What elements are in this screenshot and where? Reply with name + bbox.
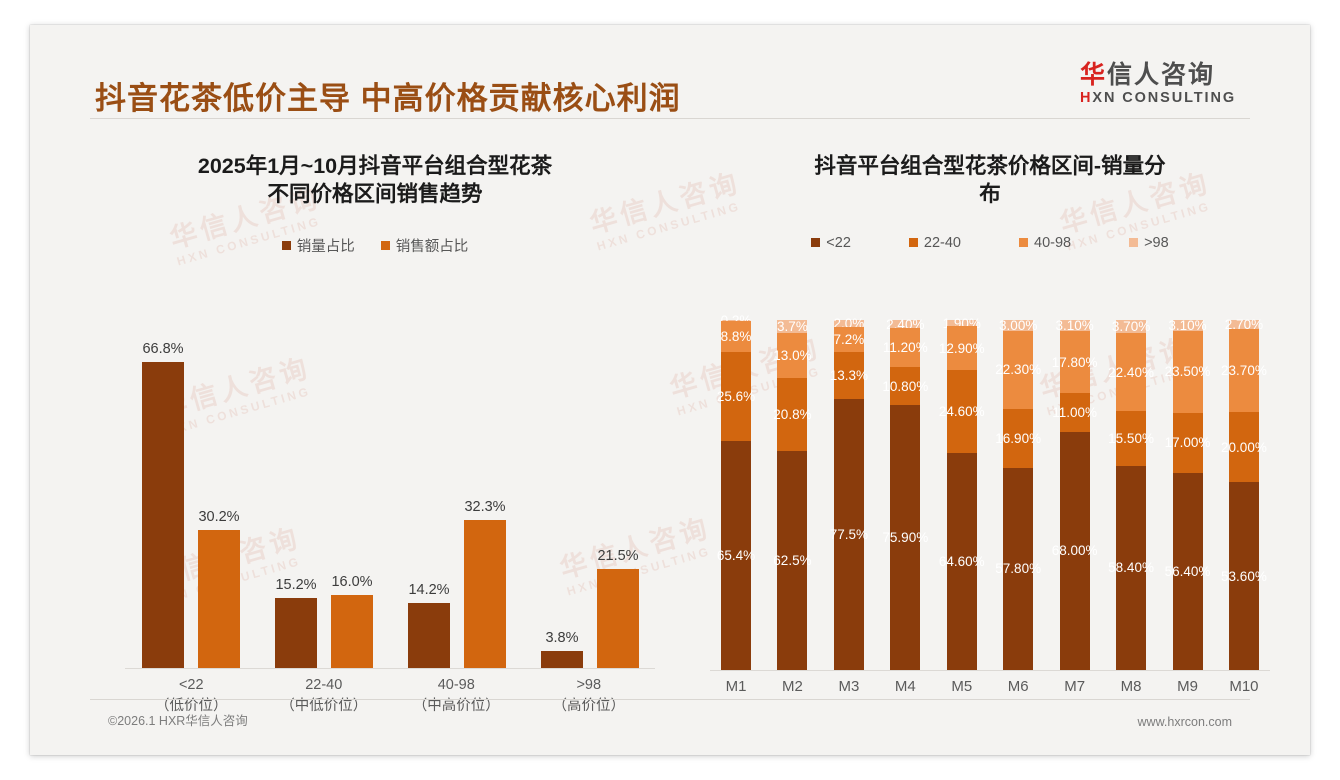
- stack-segment-22-40: 25.6%: [721, 352, 751, 442]
- left-bar-group: 14.2%32.3%: [398, 520, 516, 668]
- segment-value-label: 8.8%: [721, 329, 752, 344]
- legend-label: 40-98: [1034, 235, 1071, 251]
- right-chart-title: 抖音平台组合型花茶价格区间-销量分 布: [690, 130, 1290, 209]
- stack-segment->98: 3.10%: [1060, 320, 1090, 331]
- legend-swatch-icon: [811, 238, 820, 247]
- x-axis-label: M4: [879, 678, 931, 695]
- legend-item-left-1[interactable]: 销售额占比: [381, 235, 469, 256]
- right-chart-plot: 0.2%8.8%25.6%65.4%3.7%13.0%20.8%62.5%2.0…: [710, 320, 1270, 670]
- stack-segment-22-40: 20.8%: [777, 378, 807, 451]
- bar-销量占比[interactable]: 66.8%: [142, 362, 184, 668]
- x-axis-label: M9: [1162, 678, 1214, 695]
- bar-rect: [331, 595, 373, 668]
- logo-cn-red: 华: [1080, 61, 1107, 89]
- segment-value-label: 7.2%: [833, 332, 864, 347]
- legend-label: 销量占比: [297, 235, 355, 256]
- segment-value-label: 58.40%: [1108, 560, 1154, 575]
- footer-website[interactable]: www.hxrcon.com: [1138, 715, 1232, 729]
- stack-segment-<22: 64.60%: [947, 453, 977, 670]
- left-bar-group: 15.2%16.0%: [265, 595, 383, 668]
- segment-value-label: 17.00%: [1165, 435, 1211, 450]
- x-axis-label: M10: [1218, 678, 1270, 695]
- left-chart-title: 2025年1月~10月抖音平台组合型花茶 不同价格区间销售趋势: [70, 130, 680, 209]
- bar-rect: [541, 651, 583, 668]
- stack-segment-40-98: 7.2%: [834, 327, 864, 352]
- legend-swatch-icon: [909, 238, 918, 247]
- stacked-bar-column[interactable]: 3.10%23.50%17.00%56.40%: [1162, 320, 1214, 670]
- x-axis-label: 22-40（中低价位）: [258, 675, 391, 717]
- bar-value-label: 32.3%: [464, 499, 505, 515]
- stack-segment-<22: 68.00%: [1060, 432, 1090, 670]
- bar-rect: [597, 569, 639, 668]
- x-axis-label: M2: [766, 678, 818, 695]
- stack-segment->98: 2.70%: [1229, 320, 1259, 329]
- segment-value-label: 20.00%: [1221, 440, 1267, 455]
- left-bar-group: 66.8%30.2%: [132, 362, 250, 668]
- bar-销售额占比[interactable]: 21.5%: [597, 569, 639, 668]
- bar-value-label: 14.2%: [408, 582, 449, 598]
- stack-segment-40-98: 23.70%: [1229, 329, 1259, 412]
- stacked-bar-column[interactable]: 3.00%22.30%16.90%57.80%: [992, 320, 1044, 670]
- slide-header: 抖音花茶低价主导 中高价格贡献核心利润 华信人咨询 HXN CONSULTING: [30, 25, 1310, 120]
- bar-rect: [408, 603, 450, 668]
- stack-segment-22-40: 16.90%: [1003, 409, 1033, 468]
- stacked-bar-column[interactable]: 2.40%11.20%10.80%75.90%: [879, 320, 931, 670]
- segment-value-label: 11.00%: [1052, 405, 1097, 420]
- stack-segment-40-98: 8.8%: [721, 321, 751, 352]
- stacked-bar-column[interactable]: 2.70%23.70%20.00%53.60%: [1218, 320, 1270, 670]
- segment-value-label: 23.50%: [1165, 364, 1211, 379]
- stack-segment-<22: 62.5%: [777, 451, 807, 670]
- stacked-bar: 2.0%7.2%13.3%77.5%: [834, 320, 864, 670]
- segment-value-label: 23.70%: [1221, 363, 1267, 378]
- legend-swatch-icon: [282, 241, 291, 250]
- bar-销售额占比[interactable]: 32.3%: [464, 520, 506, 668]
- segment-value-label: 56.40%: [1165, 564, 1211, 579]
- stacked-bar: 3.00%22.30%16.90%57.80%: [1003, 320, 1033, 670]
- segment-value-label: 65.4%: [717, 548, 755, 563]
- stacked-bar: 2.40%11.20%10.80%75.90%: [890, 320, 920, 670]
- stacked-bar-column[interactable]: 2.0%7.2%13.3%77.5%: [823, 320, 875, 670]
- bar-value-label: 16.0%: [331, 574, 372, 590]
- stacked-bar: 3.10%17.80%11.00%68.00%: [1060, 320, 1090, 670]
- stack-segment-<22: 65.4%: [721, 441, 751, 670]
- stacked-bar-column[interactable]: 3.7%13.0%20.8%62.5%: [766, 320, 818, 670]
- stack-segment-40-98: 23.50%: [1173, 331, 1203, 413]
- company-logo: 华信人咨询 HXN CONSULTING: [1080, 62, 1265, 106]
- x-axis-label: >98（高价位）: [523, 675, 656, 717]
- segment-value-label: 16.90%: [995, 431, 1041, 446]
- logo-en-gray: XN CONSULTING: [1092, 90, 1236, 106]
- stacked-bar-column[interactable]: 1.90%12.90%24.60%64.60%: [936, 320, 988, 670]
- stacked-bar: 2.70%23.70%20.00%53.60%: [1229, 320, 1259, 670]
- segment-value-label: 53.60%: [1221, 569, 1267, 584]
- stacked-bar-column[interactable]: 0.2%8.8%25.6%65.4%: [710, 320, 762, 670]
- legend-item-left-0[interactable]: 销量占比: [282, 235, 355, 256]
- bar-销量占比[interactable]: 15.2%: [275, 598, 317, 668]
- left-chart-axis-line: [125, 668, 655, 669]
- right-chart-axis-line: [710, 670, 1270, 671]
- segment-value-label: 57.80%: [995, 561, 1041, 576]
- bar-value-label: 30.2%: [198, 509, 239, 525]
- logo-chinese-text: 华信人咨询: [1080, 62, 1265, 88]
- footer-divider: [90, 699, 1250, 700]
- page-title: 抖音花茶低价主导 中高价格贡献核心利润: [95, 73, 681, 118]
- stack-segment->98: 3.00%: [1003, 320, 1033, 331]
- stack-segment->98: 3.10%: [1173, 320, 1203, 331]
- x-axis-label: M3: [823, 678, 875, 695]
- bar-rect: [198, 530, 240, 668]
- x-axis-label: M8: [1105, 678, 1157, 695]
- stacked-bar: 3.10%23.50%17.00%56.40%: [1173, 320, 1203, 670]
- stack-segment-<22: 58.40%: [1116, 466, 1146, 670]
- segment-value-label: 24.60%: [939, 404, 985, 419]
- legend-label: 22-40: [924, 235, 961, 251]
- stack-segment->98: 3.7%: [777, 320, 807, 333]
- segment-value-label: 12.90%: [939, 341, 985, 356]
- segment-value-label: 20.8%: [773, 407, 811, 422]
- segment-value-label: 68.00%: [1052, 543, 1098, 558]
- bar-销售额占比[interactable]: 30.2%: [198, 530, 240, 668]
- segment-value-label: 22.30%: [995, 362, 1041, 377]
- stack-segment->98: 3.70%: [1116, 320, 1146, 333]
- stack-segment-22-40: 20.00%: [1229, 412, 1259, 482]
- stack-segment-40-98: 12.90%: [947, 326, 977, 369]
- bar-value-label: 3.8%: [545, 630, 578, 646]
- stack-segment-22-40: 24.60%: [947, 370, 977, 453]
- stack-segment-40-98: 22.40%: [1116, 333, 1146, 411]
- left-bar-group: 3.8%21.5%: [531, 569, 649, 668]
- segment-value-label: 17.80%: [1052, 355, 1098, 370]
- legend-label: >98: [1144, 235, 1169, 251]
- left-chart-panel: 2025年1月~10月抖音平台组合型花茶 不同价格区间销售趋势 销量占比销售额占…: [70, 130, 680, 720]
- bar-value-label: 21.5%: [597, 548, 638, 564]
- bar-rect: [464, 520, 506, 668]
- legend-label: 销售额占比: [396, 235, 469, 256]
- right-chart-x-labels: M1M2M3M4M5M6M7M8M9M10: [710, 678, 1270, 695]
- legend-swatch-icon: [1019, 238, 1028, 247]
- x-axis-label: M5: [936, 678, 988, 695]
- segment-value-label: 3.70%: [1112, 319, 1150, 334]
- left-chart-plot: 66.8%30.2%15.2%16.0%14.2%32.3%3.8%21.5%: [125, 338, 645, 668]
- segment-value-label: 62.5%: [773, 553, 811, 568]
- segment-value-label: 3.7%: [777, 319, 808, 334]
- slide-canvas: 抖音花茶低价主导 中高价格贡献核心利润 华信人咨询 HXN CONSULTING…: [30, 25, 1310, 755]
- stack-segment-<22: 53.60%: [1229, 482, 1259, 670]
- stack-segment->98: 2.40%: [890, 320, 920, 328]
- stack-segment->98: 2.0%: [834, 320, 864, 327]
- logo-cn-gray: 信人咨询: [1107, 61, 1215, 89]
- stack-segment-<22: 57.80%: [1003, 468, 1033, 670]
- stack-segment-40-98: 13.0%: [777, 333, 807, 379]
- bar-rect: [142, 362, 184, 668]
- bar-销售额占比[interactable]: 16.0%: [331, 595, 373, 668]
- left-chart-legend: 销量占比销售额占比: [70, 235, 680, 256]
- x-axis-label: M6: [992, 678, 1044, 695]
- legend-item-right-2[interactable]: 40-98: [1019, 235, 1071, 251]
- segment-value-label: 77.5%: [830, 527, 868, 542]
- stacked-bar-column[interactable]: 3.10%17.80%11.00%68.00%: [1049, 320, 1101, 670]
- bar-销量占比[interactable]: 3.8%: [541, 651, 583, 668]
- legend-item-right-3[interactable]: >98: [1129, 235, 1169, 251]
- bar-value-label: 66.8%: [142, 341, 183, 357]
- segment-value-label: 10.80%: [882, 379, 928, 394]
- stacked-bar: 3.7%13.0%20.8%62.5%: [777, 320, 807, 670]
- right-chart-panel: 抖音平台组合型花茶价格区间-销量分 布 <2222-4040-98>98 0.2…: [690, 130, 1290, 720]
- stacked-bar: 3.70%22.40%15.50%58.40%: [1116, 320, 1146, 670]
- logo-english-text: HXN CONSULTING: [1080, 90, 1265, 106]
- stacked-bar: 1.90%12.90%24.60%64.60%: [947, 320, 977, 670]
- segment-value-label: 13.3%: [830, 368, 868, 383]
- stack-segment-<22: 75.90%: [890, 405, 920, 670]
- stack-segment-40-98: 11.20%: [890, 328, 920, 367]
- stack-segment-<22: 56.40%: [1173, 473, 1203, 670]
- bar-销量占比[interactable]: 14.2%: [408, 603, 450, 668]
- stack-segment-22-40: 15.50%: [1116, 411, 1146, 465]
- x-axis-label: 40-98（中高价位）: [390, 675, 523, 717]
- stack-segment-<22: 77.5%: [834, 399, 864, 670]
- segment-value-label: 22.40%: [1108, 365, 1154, 380]
- x-axis-label: M1: [710, 678, 762, 695]
- stack-segment-22-40: 13.3%: [834, 352, 864, 399]
- title-divider: [90, 118, 1250, 119]
- logo-en-red: H: [1080, 90, 1092, 106]
- legend-item-right-0[interactable]: <22: [811, 235, 851, 251]
- legend-item-right-1[interactable]: 22-40: [909, 235, 961, 251]
- legend-swatch-icon: [1129, 238, 1138, 247]
- segment-value-label: 11.20%: [883, 340, 928, 355]
- right-chart-legend: <2222-4040-98>98: [690, 235, 1290, 251]
- legend-swatch-icon: [381, 241, 390, 250]
- bar-value-label: 15.2%: [275, 577, 316, 593]
- legend-label: <22: [826, 235, 851, 251]
- segment-value-label: 64.60%: [939, 554, 985, 569]
- x-axis-label: M7: [1049, 678, 1101, 695]
- bar-rect: [275, 598, 317, 668]
- segment-value-label: 15.50%: [1108, 431, 1154, 446]
- stacked-bar-column[interactable]: 3.70%22.40%15.50%58.40%: [1105, 320, 1157, 670]
- segment-value-label: 13.0%: [773, 348, 811, 363]
- segment-value-label: 25.6%: [717, 389, 755, 404]
- stacked-bar: 0.2%8.8%25.6%65.4%: [721, 320, 751, 670]
- stack-segment-22-40: 11.00%: [1060, 393, 1090, 432]
- footer-copyright: ©2026.1 HXR华信人咨询: [108, 710, 248, 729]
- stack-segment-40-98: 22.30%: [1003, 331, 1033, 409]
- segment-value-label: 75.90%: [882, 530, 928, 545]
- stack-segment-40-98: 17.80%: [1060, 331, 1090, 393]
- stack-segment-22-40: 10.80%: [890, 367, 920, 405]
- stack-segment-22-40: 17.00%: [1173, 413, 1203, 473]
